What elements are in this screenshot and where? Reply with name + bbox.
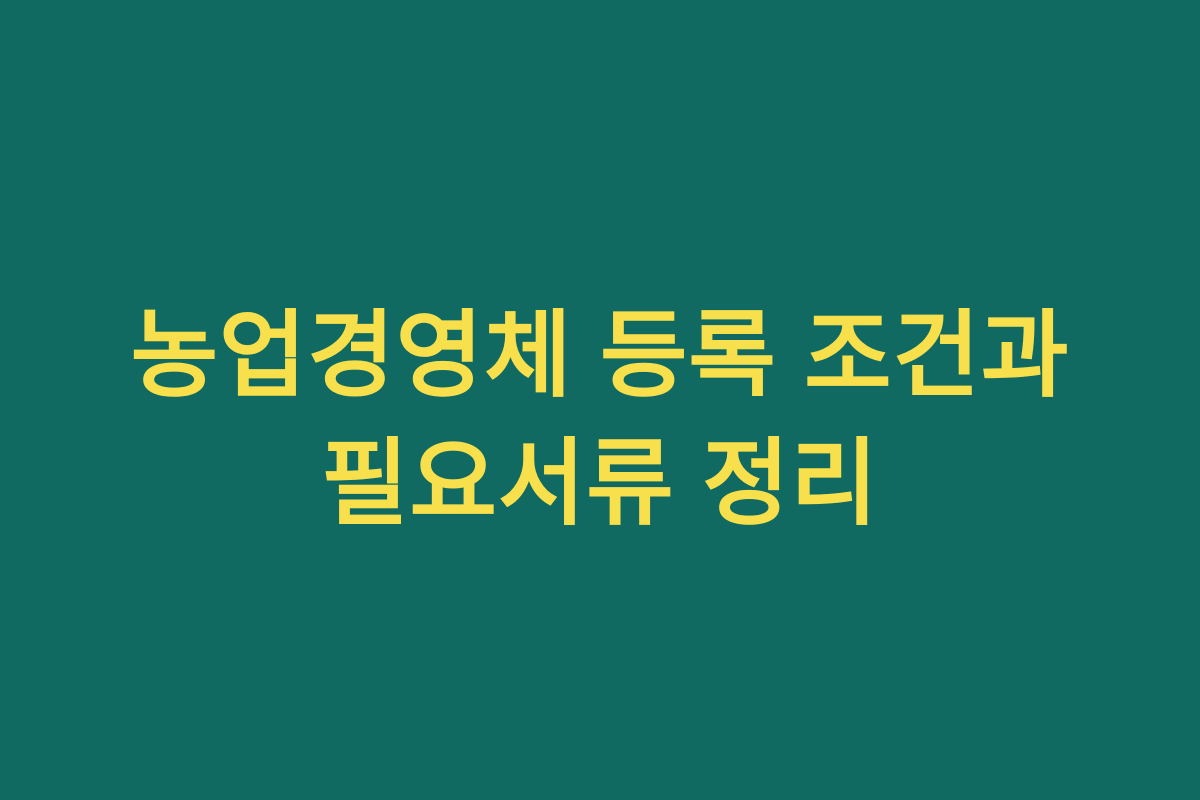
title-banner: 농업경영체 등록 조건과 필요서류 정리	[0, 0, 1200, 800]
page-title-line-1: 농업경영체 등록 조건과	[131, 292, 1070, 420]
page-title: 농업경영체 등록 조건과 필요서류 정리	[0, 292, 1200, 548]
page-title-line-2: 필요서류 정리	[321, 420, 879, 548]
